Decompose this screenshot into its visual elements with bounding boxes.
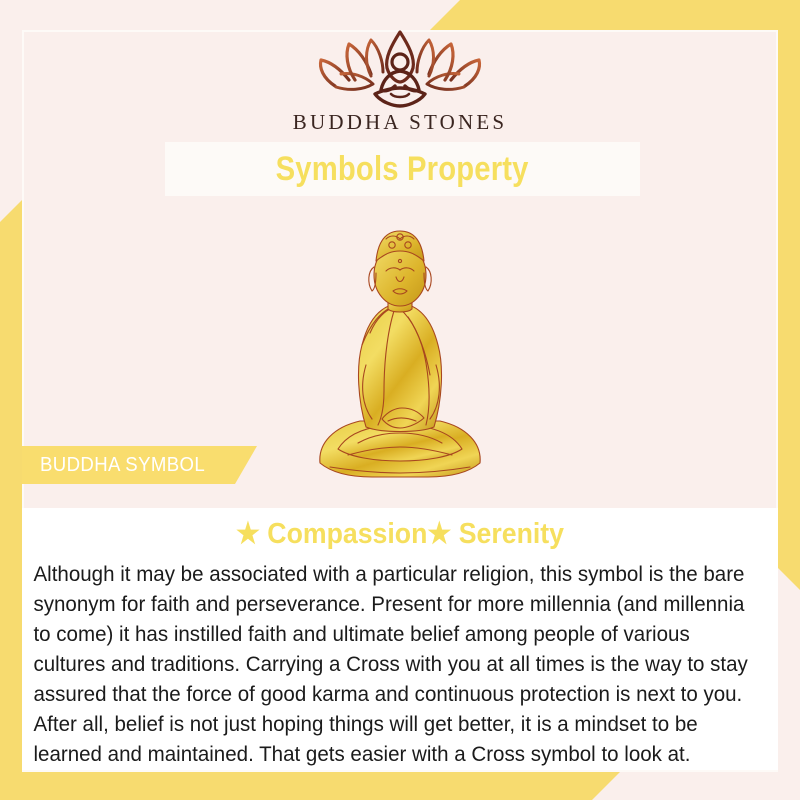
article-body-text: Although it may be associated with a par…	[22, 551, 771, 769]
content-panel: ★ Compassion★ Serenity Although it may b…	[22, 508, 778, 770]
section-banner-label: BUDDHA SYMBOL	[40, 454, 205, 477]
poster-page: BUDDHA STONES Symbols Property	[0, 0, 800, 800]
page-title: Symbols Property	[276, 150, 529, 189]
brand-header: BUDDHA STONES	[0, 24, 800, 135]
section-banner-buddha-symbol: BUDDHA SYMBOL	[22, 446, 257, 484]
title-band: Symbols Property	[165, 142, 640, 196]
decorative-strip-bottom	[0, 772, 620, 800]
golden-seated-buddha-statue-icon	[300, 205, 500, 490]
brand-name: BUDDHA STONES	[293, 110, 508, 135]
article-subheading: ★ Compassion★ Serenity	[52, 508, 748, 551]
lotus-meditation-logo-icon	[305, 24, 495, 108]
